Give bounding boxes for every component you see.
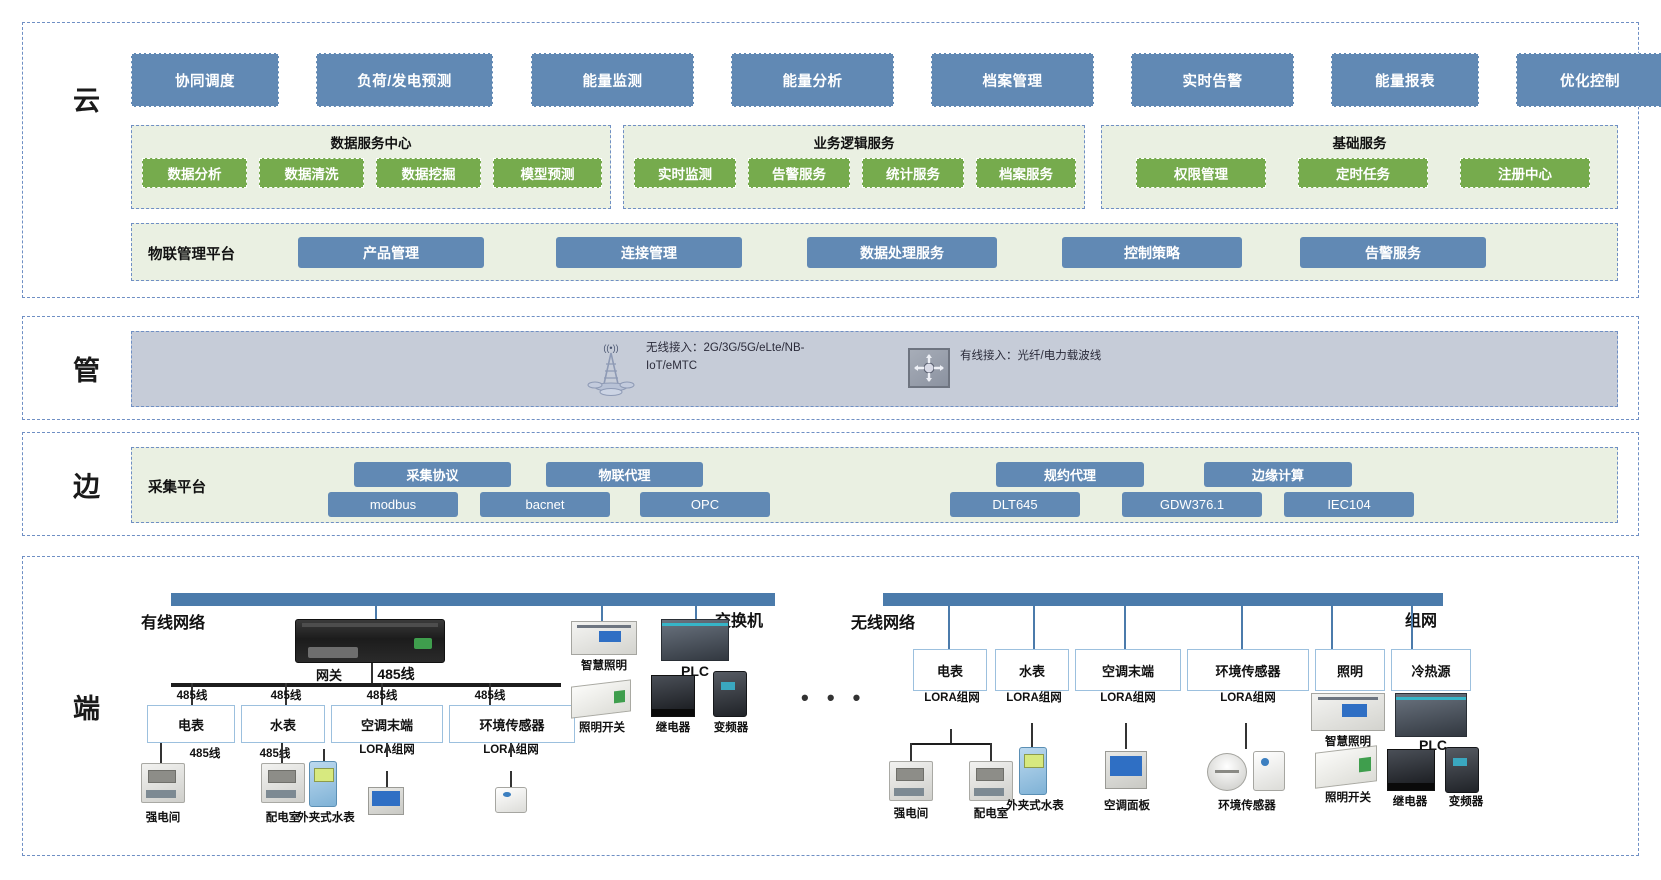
iot-chip-alarm-service[interactable]: 告警服务	[1300, 237, 1486, 268]
cloud-application-row: 协同调度 负荷/发电预测 能量监测 能量分析 档案管理 实时告警 能量报表 优化…	[131, 53, 1618, 107]
edge-chip-iec104[interactable]: IEC104	[1284, 492, 1414, 517]
device-layer-label: 端	[73, 687, 101, 726]
cell-tower-svg: ((•))	[584, 340, 638, 398]
edge-chip-modbus[interactable]: modbus	[328, 492, 458, 517]
wireless-meter-drop-b	[990, 743, 992, 761]
device-layer: 端 有线网络 交换机 网关 485线 485线 485线 485线 485线 电…	[22, 556, 1639, 856]
service-group-data-center: 数据服务中心 数据分析 数据清洗 数据挖掘 模型预测	[131, 125, 611, 209]
wireless-bus-drop-4	[1241, 606, 1243, 650]
app-box-shishi-gaojing[interactable]: 实时告警	[1131, 53, 1294, 107]
wireless-caption-8: PLC	[1405, 737, 1461, 753]
wired-meter2-drop	[281, 743, 283, 763]
wired-branch-label-4: 485线	[459, 687, 521, 703]
service-group-business-logic: 业务逻辑服务 实时监测 告警服务 统计服务 档案服务	[623, 125, 1085, 209]
wired-device-caption-3: 外夹式水表	[285, 809, 367, 825]
edge-chip-collect-protocol[interactable]: 采集协议	[354, 462, 511, 487]
wireless-env-drop	[1245, 723, 1247, 749]
wired-bus	[171, 593, 775, 606]
edge-chip-opc[interactable]: OPC	[640, 492, 770, 517]
pipe-band: ((•)) 无线接入：2G/3G/5G/eLte/NB-IoT/eMTC	[131, 331, 1618, 407]
edge-chip-gdw376[interactable]: GDW376.1	[1122, 492, 1262, 517]
wireless-meter-drop-a	[910, 743, 912, 761]
service-chip-archive-service[interactable]: 档案服务	[976, 158, 1076, 188]
service-group-basic: 基础服务 权限管理 定时任务 注册中心	[1101, 125, 1618, 209]
wireless-caption-7: 照明开关	[1307, 789, 1389, 805]
plc-icon-wired	[661, 619, 729, 661]
service-chip-alarm-service[interactable]: 告警服务	[748, 158, 850, 188]
cloud-layer-label: 云	[73, 79, 101, 118]
env-sensor-icon	[495, 787, 527, 813]
service-chip-registry[interactable]: 注册中心	[1460, 158, 1590, 188]
wired-group-link-label-2: 485线	[245, 745, 305, 761]
edge-chip-bacnet[interactable]: bacnet	[480, 492, 610, 517]
service-chip-data-cleaning[interactable]: 数据清洗	[259, 158, 364, 188]
iot-chip-product-mgmt[interactable]: 产品管理	[298, 237, 484, 268]
app-box-xietong-diaodu[interactable]: 协同调度	[131, 53, 279, 107]
app-box-nengliang-baobiao[interactable]: 能量报表	[1331, 53, 1479, 107]
wireless-caption-9: 继电器	[1379, 793, 1441, 809]
service-group-title: 数据服务中心	[132, 132, 610, 152]
water-meter-icon	[309, 761, 337, 807]
iot-chip-control-strategy[interactable]: 控制策略	[1062, 237, 1242, 268]
iot-platform-title: 物联管理平台	[148, 243, 235, 264]
app-box-dangan-guanli[interactable]: 档案管理	[931, 53, 1094, 107]
smart-lighting-icon-w	[1311, 693, 1385, 731]
wireless-bus-drop-5	[1331, 606, 1333, 650]
edge-layer-label: 边	[73, 465, 101, 504]
edge-layer: 边 采集平台 采集协议 物联代理 规约代理 边缘计算 modbus bacnet…	[22, 432, 1639, 536]
wired-group-box-hvac-terminal[interactable]: 空调末端	[331, 705, 443, 743]
lighting-switch-icon-w	[1315, 745, 1377, 789]
env-sensor-icon-w	[1253, 751, 1285, 791]
cell-tower-icon: ((•))	[584, 340, 638, 398]
wireless-bus-drop-6	[1411, 606, 1413, 650]
gateway-icon	[295, 619, 445, 663]
service-chip-data-mining[interactable]: 数据挖掘	[376, 158, 481, 188]
wired-access-text: 有线接入：光纤/电力载波线	[960, 348, 1101, 366]
edge-chip-iot-agent[interactable]: 物联代理	[546, 462, 703, 487]
iot-chip-data-processing[interactable]: 数据处理服务	[807, 237, 997, 268]
lighting-switch-icon-wired	[571, 679, 631, 718]
wireless-caption-1: 强电间	[879, 805, 943, 821]
svg-text:((•)): ((•))	[603, 343, 618, 353]
wired-branch-label-2: 485线	[255, 687, 317, 703]
gateway-to-bus-line	[371, 663, 373, 683]
electricity-meter-icon-1	[141, 763, 185, 803]
wired-branch-label-1: 485线	[161, 687, 223, 703]
wireless-group-box-hvac-terminal[interactable]: 空调末端	[1075, 649, 1181, 691]
app-box-nengliang-jiance[interactable]: 能量监测	[531, 53, 694, 107]
wireless-access-item: ((•)) 无线接入：2G/3G/5G/eLte/NB-IoT/eMTC	[584, 340, 806, 398]
electricity-meter-icon-2	[261, 763, 305, 803]
wireless-bus-drop-2	[1033, 606, 1035, 650]
wireless-caption-3: 外夹式水表	[991, 797, 1079, 813]
architecture-diagram: 云 协同调度 负荷/发电预测 能量监测 能量分析 档案管理 实时告警 能量报表 …	[0, 0, 1661, 880]
network-switch-svg	[910, 350, 948, 386]
plc-icon-w	[1395, 693, 1467, 737]
wired-group-box-water-meter[interactable]: 水表	[241, 705, 325, 743]
edge-platform-title: 采集平台	[148, 476, 206, 497]
wireless-meter-drop	[950, 729, 952, 743]
wired-env-drop	[510, 743, 512, 757]
wireless-water-drop	[1031, 723, 1033, 749]
wireless-bus-drop-3	[1124, 606, 1126, 650]
wireless-group-box-lighting[interactable]: 照明	[1315, 649, 1385, 691]
app-box-fuhe-fadian-yuce[interactable]: 负荷/发电预测	[316, 53, 493, 107]
relay-icon-w	[1387, 749, 1435, 791]
wireless-caption-5: 环境传感器	[1201, 797, 1293, 813]
iot-chip-connection-mgmt[interactable]: 连接管理	[556, 237, 742, 268]
smart-lighting-icon-wired	[571, 621, 637, 655]
network-switch-icon	[908, 348, 950, 388]
electricity-meter-icon-w1	[889, 761, 933, 801]
water-meter-icon-w	[1019, 747, 1047, 795]
wireless-group-box-electricity-meter[interactable]: 电表	[913, 649, 987, 691]
smoke-sensor-icon-w	[1207, 753, 1247, 791]
wired-group-box-electricity-meter[interactable]: 电表	[147, 705, 235, 743]
wireless-group-link-1: LORA组网	[921, 691, 983, 705]
wired-device-caption-1: 强电间	[131, 809, 195, 825]
wired-direct-caption-smart-lighting: 智慧照明	[565, 657, 643, 673]
wireless-caption-4: 空调面板	[1091, 797, 1163, 813]
app-box-nengliang-fenxi[interactable]: 能量分析	[731, 53, 894, 107]
service-group-title: 基础服务	[1102, 132, 1617, 152]
hvac-panel-icon-w	[1105, 751, 1147, 789]
wireless-group-link-3: LORA组网	[1097, 691, 1159, 705]
wireless-bus-drop-1	[948, 606, 950, 650]
wireless-group-label: 组网	[1405, 607, 1437, 631]
wired-meter1-drop	[160, 743, 162, 763]
wired-group-link-label-1: 485线	[175, 745, 235, 761]
wireless-group-box-env-sensor[interactable]: 环境传感器	[1187, 649, 1309, 691]
wired-hvac-drop	[386, 743, 388, 757]
app-box-youhua-kongzhi[interactable]: 优化控制	[1516, 53, 1661, 107]
wireless-group-link-4: LORA组网	[1217, 691, 1279, 705]
wired-branch-label-3: 485线	[351, 687, 413, 703]
wireless-access-text: 无线接入：2G/3G/5G/eLte/NB-IoT/eMTC	[646, 340, 806, 376]
gateway-port	[414, 638, 432, 649]
electricity-meter-icon-w2	[969, 761, 1013, 801]
service-group-title: 业务逻辑服务	[624, 132, 1084, 152]
wireless-group-link-2: LORA组网	[1003, 691, 1065, 705]
wired-access-item: 有线接入：光纤/电力载波线	[908, 348, 1101, 388]
hvac-panel-icon	[368, 787, 404, 815]
wireless-bus	[883, 593, 1443, 606]
cloud-layer: 云 协同调度 负荷/发电预测 能量监测 能量分析 档案管理 实时告警 能量报表 …	[22, 22, 1639, 298]
service-chip-realtime-monitor[interactable]: 实时监测	[634, 158, 736, 188]
wired-direct-caption-relay: 继电器	[643, 719, 703, 735]
vfd-icon-w	[1445, 747, 1479, 793]
edge-chip-dlt645[interactable]: DLT645	[950, 492, 1080, 517]
wired-group-box-env-sensor[interactable]: 环境传感器	[449, 705, 575, 743]
service-chip-scheduled-job[interactable]: 定时任务	[1298, 158, 1428, 188]
pipe-layer: 管 ((•)) 无线接入：2G/3G/5G/eLte/NB-IoT/eMTC	[22, 316, 1639, 420]
edge-chip-protocol-agent[interactable]: 规约代理	[996, 462, 1144, 487]
wireless-hvac-drop	[1125, 723, 1127, 749]
wired-direct-caption-lighting-switch: 照明开关	[561, 719, 643, 735]
iot-management-platform: 物联管理平台 产品管理 连接管理 数据处理服务 控制策略 告警服务	[131, 223, 1618, 281]
gateway-label: 网关	[299, 665, 359, 684]
relay-icon-wired	[651, 675, 695, 717]
service-chip-model-forecast[interactable]: 模型预测	[493, 158, 602, 188]
wireless-meter-tee	[910, 743, 992, 745]
service-chip-permission[interactable]: 权限管理	[1136, 158, 1266, 188]
wired-network-label: 有线网络	[141, 609, 205, 633]
pipe-layer-label: 管	[73, 349, 101, 388]
wireless-caption-10: 变频器	[1435, 793, 1497, 809]
edge-chip-edge-computing[interactable]: 边缘计算	[1204, 462, 1352, 487]
vfd-icon-wired	[713, 671, 747, 717]
wireless-caption-6: 智慧照明	[1309, 733, 1387, 749]
edge-collection-platform: 采集平台 采集协议 物联代理 规约代理 边缘计算 modbus bacnet O…	[131, 447, 1618, 523]
wireless-group-box-water-meter[interactable]: 水表	[995, 649, 1069, 691]
service-chip-data-analysis[interactable]: 数据分析	[142, 158, 247, 188]
wireless-network-label: 无线网络	[851, 609, 915, 633]
ellipsis-separator: • • •	[801, 685, 866, 711]
service-chip-stat-service[interactable]: 统计服务	[862, 158, 964, 188]
wireless-group-box-heat-cold-source[interactable]: 冷热源	[1391, 649, 1471, 691]
wired-direct-caption-vfd: 变频器	[701, 719, 761, 735]
